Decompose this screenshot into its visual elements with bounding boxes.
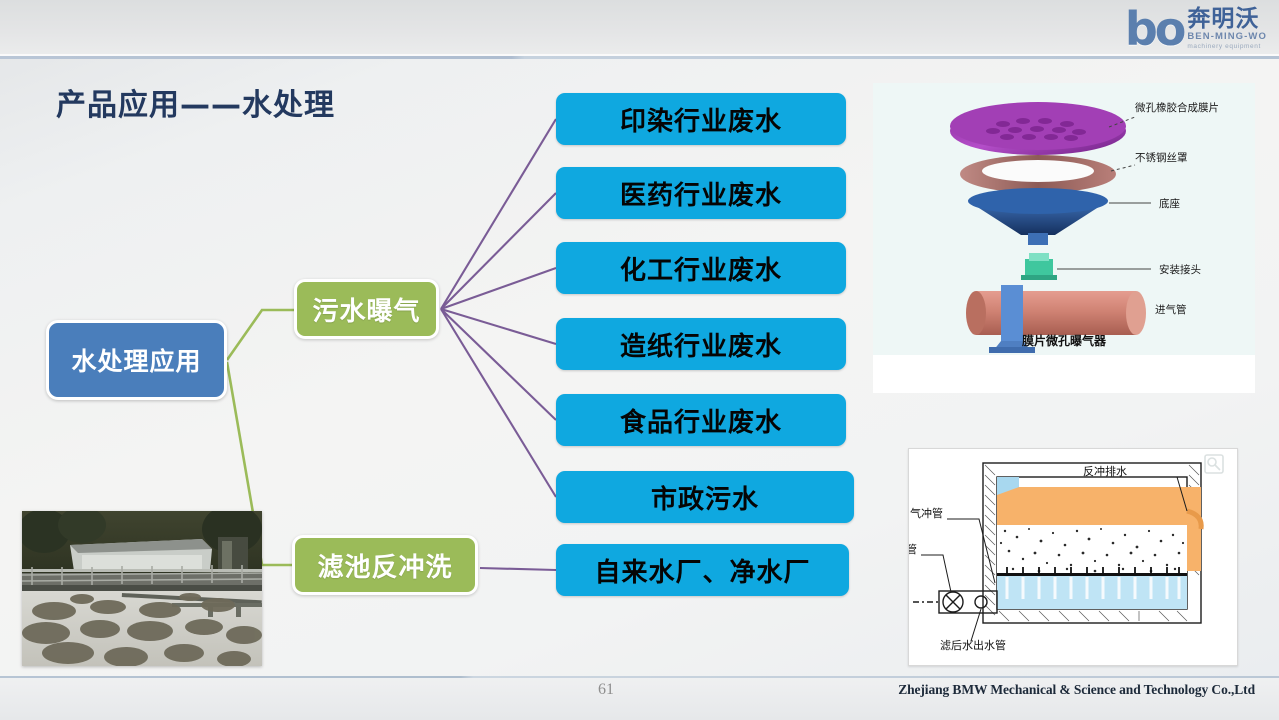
slide-canvas: bo 奔明沃 BEN-MING-WO machinery equipment 产… bbox=[0, 0, 1279, 720]
label-air-pipe: 气冲管 bbox=[910, 506, 943, 520]
node-leaf-waterworks[interactable]: 自来水厂、净水厂 bbox=[556, 544, 849, 596]
node-leaf-label: 食品行业废水 bbox=[620, 402, 782, 439]
node-leaf-label: 自来水厂、净水厂 bbox=[594, 552, 810, 589]
node-leaf-papermaking[interactable]: 造纸行业废水 bbox=[556, 318, 846, 370]
callout-steel-mesh: 不锈钢丝罩 bbox=[1135, 151, 1188, 164]
node-branch-filter-backwash[interactable]: 滤池反冲洗 bbox=[292, 535, 478, 595]
connector-root-to-aeration bbox=[227, 310, 294, 360]
label-water-pipe: 水冲管 bbox=[909, 542, 917, 556]
node-leaf-pharmaceutical[interactable]: 医药行业废水 bbox=[556, 167, 846, 219]
callout-connector: 安装接头 bbox=[1159, 263, 1201, 276]
callout-membrane: 微孔橡胶合成膜片 bbox=[1135, 101, 1219, 114]
node-branch-label: 污水曝气 bbox=[312, 291, 420, 328]
filter-backwash-diagram-image: 反冲排水 气冲管 水冲管 滤后水出水管 bbox=[908, 448, 1238, 666]
node-root-water-treatment[interactable]: 水处理应用 bbox=[46, 320, 227, 400]
node-leaf-label: 市政污水 bbox=[651, 479, 759, 516]
node-leaf-food[interactable]: 食品行业废水 bbox=[556, 394, 846, 446]
aerator-diagram-image: 微孔橡胶合成膜片 不锈钢丝罩 底座 安装接头 进气管 膜片微孔曝气器 bbox=[873, 83, 1255, 355]
node-branch-label: 滤池反冲洗 bbox=[317, 547, 452, 584]
company-footer-text: Zhejiang BMW Mechanical & Science and Te… bbox=[898, 682, 1255, 698]
aeration-tank-photo bbox=[22, 511, 262, 666]
node-leaf-label: 医药行业废水 bbox=[620, 175, 782, 212]
node-leaf-label: 造纸行业废水 bbox=[620, 326, 782, 363]
node-leaf-chemical[interactable]: 化工行业废水 bbox=[556, 242, 846, 294]
label-filtered-outlet: 滤后水出水管 bbox=[940, 638, 1006, 652]
aerator-panel-footer-strip bbox=[873, 355, 1255, 393]
node-leaf-label: 化工行业废水 bbox=[620, 250, 782, 287]
connector-aeration-to-leaf-1 bbox=[441, 119, 556, 309]
node-leaf-printing-dyeing[interactable]: 印染行业废水 bbox=[556, 93, 846, 145]
page-number: 61 bbox=[598, 681, 614, 699]
label-backwash-drain: 反冲排水 bbox=[1083, 464, 1127, 478]
node-root-label: 水处理应用 bbox=[71, 342, 201, 378]
connector-aeration-to-leaf-2 bbox=[441, 193, 556, 309]
node-leaf-municipal[interactable]: 市政污水 bbox=[556, 471, 854, 523]
callout-air-pipe: 进气管 bbox=[1155, 303, 1187, 316]
callout-base: 底座 bbox=[1159, 197, 1180, 210]
connector-backwash-to-leaf-7 bbox=[480, 568, 556, 570]
connector-aeration-to-leaf-3 bbox=[441, 268, 556, 309]
node-branch-sewage-aeration[interactable]: 污水曝气 bbox=[294, 279, 439, 339]
node-leaf-label: 印染行业废水 bbox=[620, 101, 782, 138]
aerator-caption: 膜片微孔曝气器 bbox=[1022, 333, 1107, 348]
